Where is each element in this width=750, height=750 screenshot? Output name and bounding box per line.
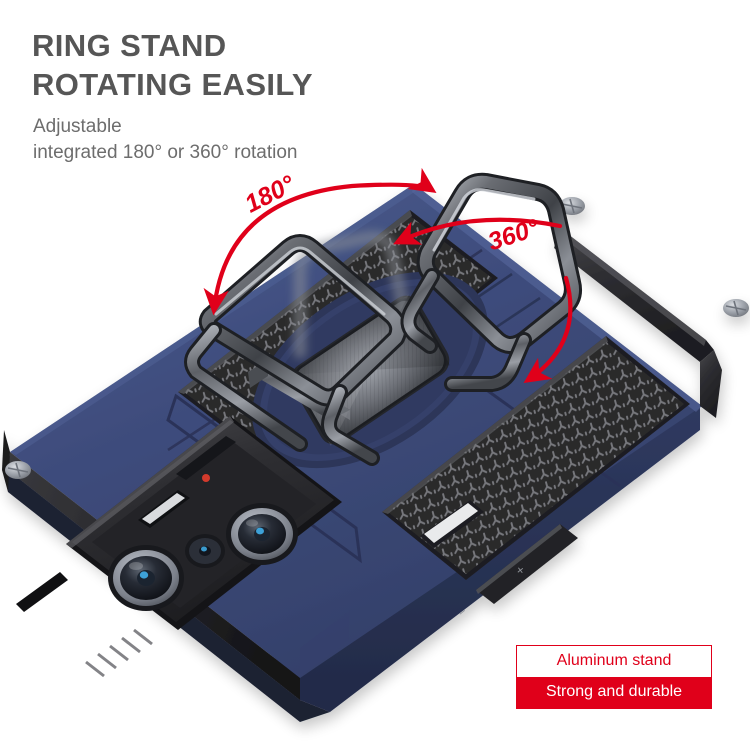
feature-badge: Aluminum stand Strong and durable bbox=[516, 645, 712, 709]
bumper-grip-ridges bbox=[86, 630, 152, 676]
product-infographic: RING STAND ROTATING EASILY Adjustable in… bbox=[0, 0, 750, 750]
bumper-left-cutout bbox=[16, 572, 68, 612]
screw-left bbox=[5, 461, 31, 479]
camera-lens-secondary bbox=[226, 503, 298, 565]
badge-bottom-text: Strong and durable bbox=[517, 677, 711, 708]
product-illustration: + − bbox=[0, 0, 750, 750]
badge-top-text: Aluminum stand bbox=[517, 646, 711, 677]
camera-lens-tertiary bbox=[185, 534, 225, 568]
camera-led bbox=[202, 474, 210, 482]
camera-lens-main bbox=[108, 545, 184, 611]
screw-right bbox=[723, 299, 749, 317]
